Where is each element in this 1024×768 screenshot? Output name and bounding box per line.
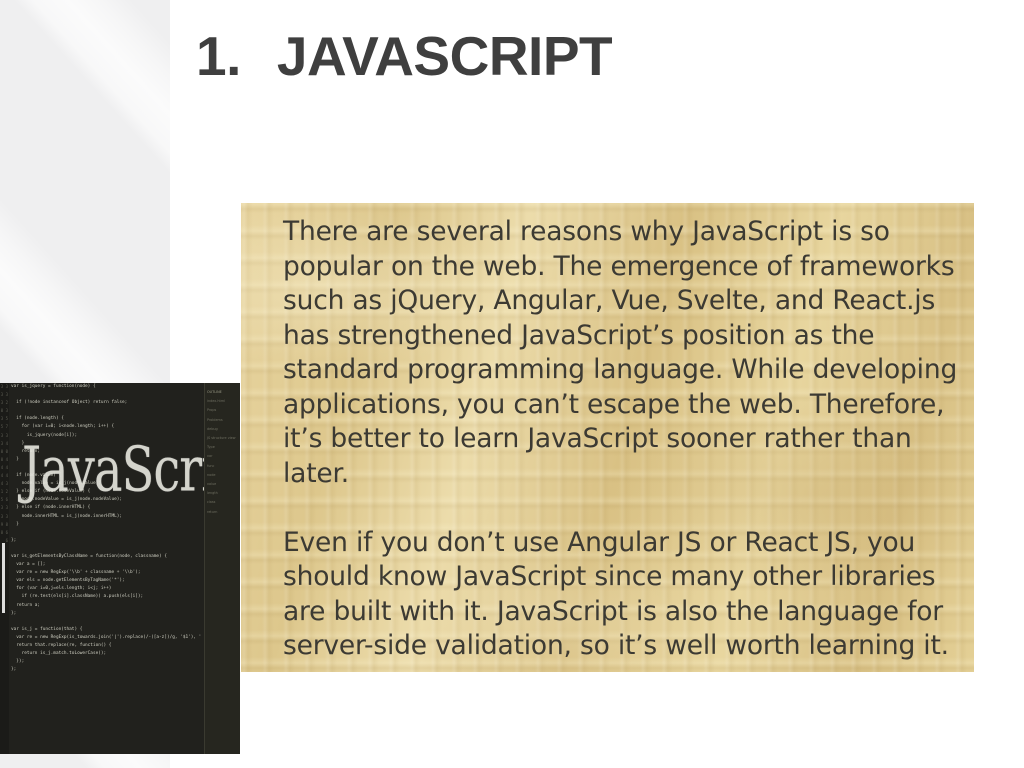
- code-side-panel-row: Props: [207, 407, 238, 413]
- code-side-panel-row: JS structure view: [207, 435, 238, 441]
- page-title: 1.JAVASCRIPT: [196, 26, 612, 87]
- code-side-panel-row: value: [207, 481, 238, 487]
- code-side-panel-row: node: [207, 472, 238, 478]
- code-side-panel-row: return: [207, 509, 238, 515]
- code-editor-side-panel: OUTLINEindex.htmlPropsProblemsdebugJS st…: [204, 383, 240, 754]
- content-panel: There are several reasons why JavaScript…: [241, 203, 974, 672]
- code-side-panel-row: OUTLINE: [207, 389, 238, 395]
- code-side-panel-row: debug: [207, 426, 238, 432]
- code-side-panel-row: class: [207, 499, 238, 505]
- page-title-number: 1.: [196, 25, 241, 87]
- code-side-panel-row: Type: [207, 444, 238, 450]
- code-side-panel-row: func: [207, 463, 238, 469]
- javascript-code-image: 3 3 3 3 3 2 0 3 3 5 5 7 3 3 3 4 0 0 0 4 …: [0, 383, 240, 754]
- content-text-block: There are several reasons why JavaScript…: [241, 203, 973, 664]
- code-side-panel-row: index.html: [207, 398, 238, 404]
- code-side-panel-row: length: [207, 490, 238, 496]
- code-side-panel-row: Problems: [207, 417, 238, 423]
- content-paragraph-2: Even if you don’t use Angular JS or Reac…: [283, 526, 973, 664]
- content-paragraph-1: There are several reasons why JavaScript…: [283, 215, 973, 491]
- code-side-panel-row: var: [207, 453, 238, 459]
- page-title-text: JAVASCRIPT: [277, 25, 612, 87]
- code-cursor: [2, 543, 5, 613]
- code-source-text: var is_jquery = function(node) { if (!no…: [11, 383, 201, 754]
